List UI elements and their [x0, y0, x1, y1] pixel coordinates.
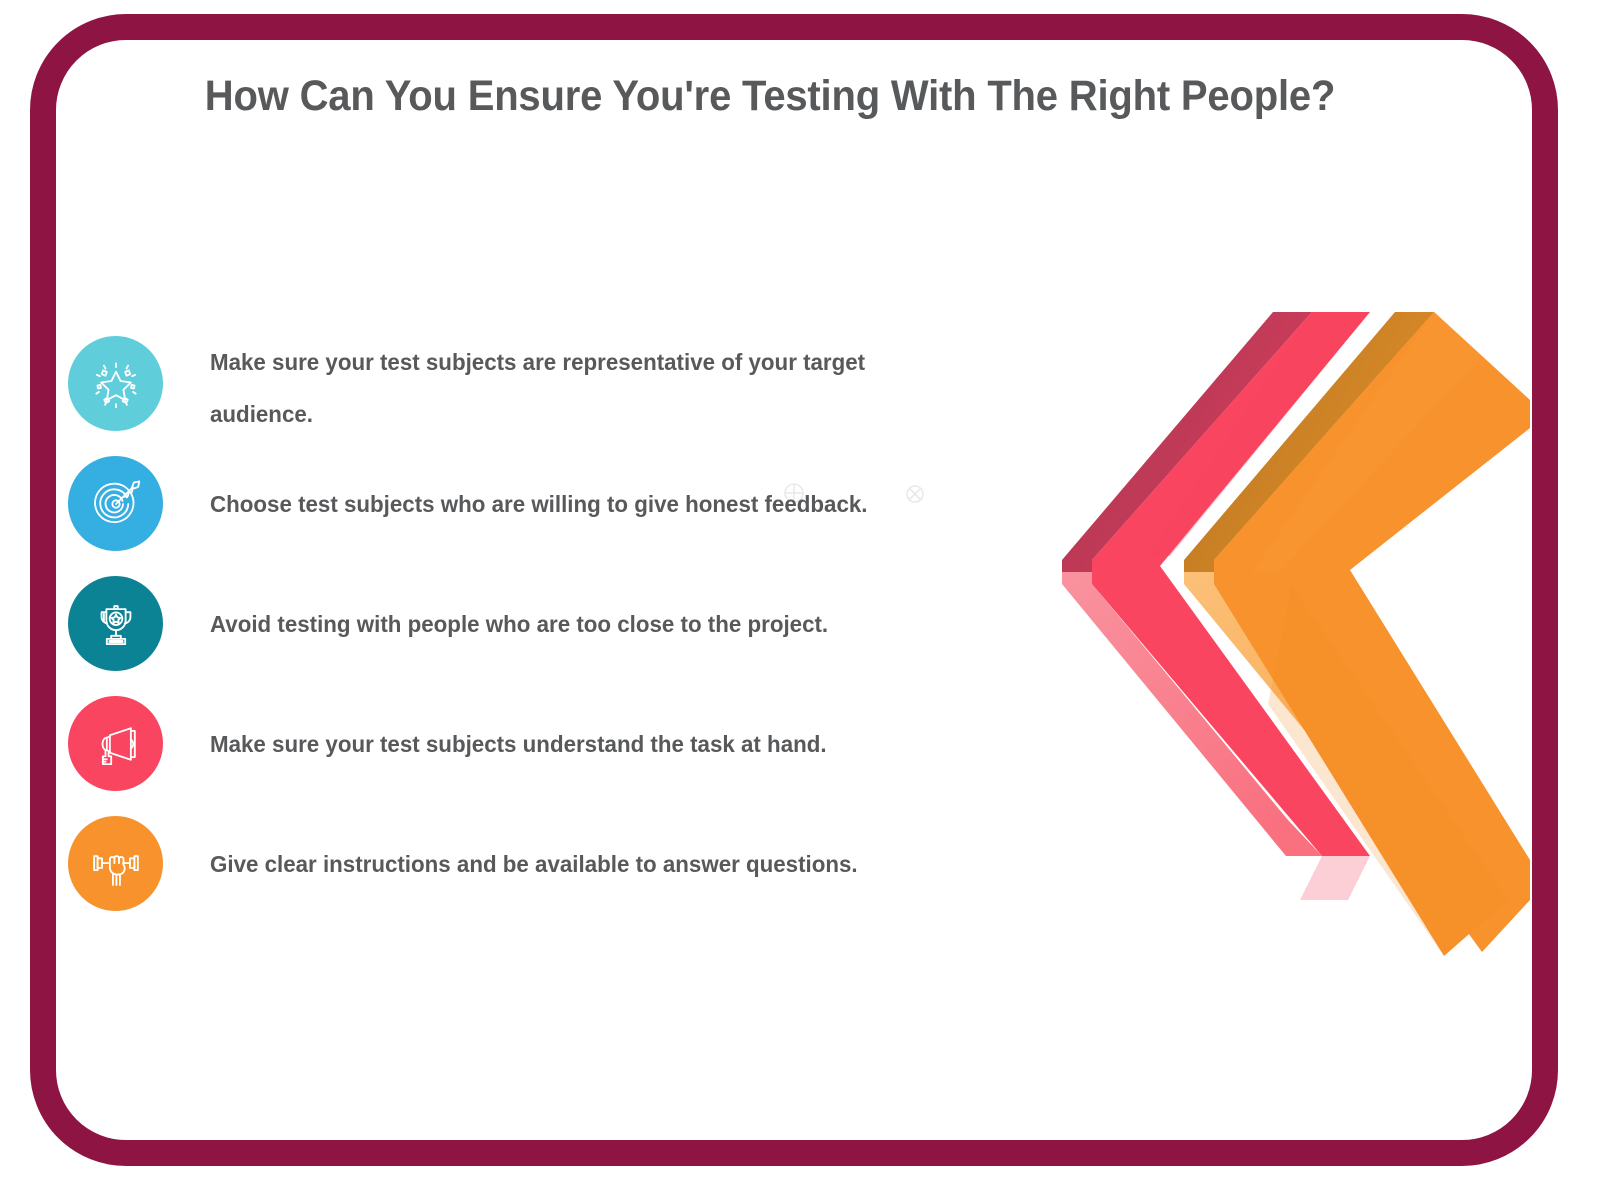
hand-dumbbell-icon: [68, 816, 163, 911]
slide-canvas: How Can You Ensure You're Testing With T…: [0, 0, 1600, 1200]
list-item-text: Make sure your test subjects are represe…: [210, 336, 961, 440]
trophy-icon: [68, 576, 163, 671]
bullet-list: Make sure your test subjects are represe…: [68, 336, 988, 936]
list-item-text: Avoid testing with people who are too cl…: [210, 598, 961, 650]
list-item-text: Make sure your test subjects understand …: [210, 718, 961, 770]
list-item: Give clear instructions and be available…: [68, 816, 988, 936]
double-chevron-graphic: [1030, 300, 1530, 980]
megaphone-icon: [68, 696, 163, 791]
list-item: Choose test subjects who are willing to …: [68, 456, 988, 576]
target-arrow-icon: [68, 456, 163, 551]
list-item-text: Choose test subjects who are willing to …: [210, 478, 961, 530]
list-item-text: Give clear instructions and be available…: [210, 838, 961, 890]
list-item: Make sure your test subjects understand …: [68, 696, 988, 816]
page-title: How Can You Ensure You're Testing With T…: [128, 72, 1411, 121]
star-burst-icon: [68, 336, 163, 431]
list-item: Avoid testing with people who are too cl…: [68, 576, 988, 696]
list-item: Make sure your test subjects are represe…: [68, 336, 988, 456]
